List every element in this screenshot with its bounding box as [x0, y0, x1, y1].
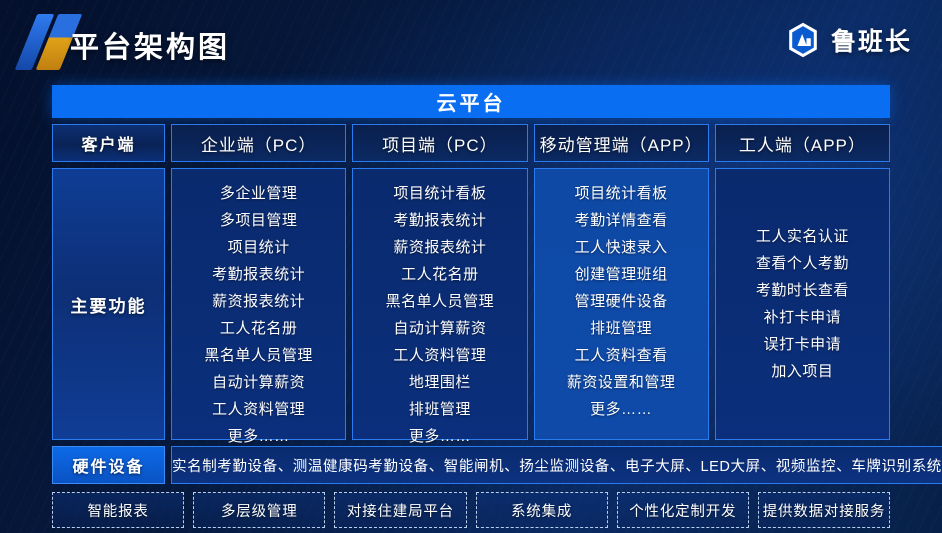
list-item[interactable]: 工人资料管理	[212, 401, 305, 419]
function-column-worker: 工人实名认证 查看个人考勤 考勤时长查看 补打卡申请 误打卡申请 加入项目	[715, 168, 890, 440]
hardware-label: 硬件设备	[72, 453, 144, 477]
list-item[interactable]: 管理硬件设备	[575, 293, 668, 311]
list-item[interactable]: 误打卡申请	[764, 336, 842, 354]
brand: 鲁班长	[785, 21, 912, 59]
list-item[interactable]: 排班管理	[590, 320, 652, 338]
hexagon-building-icon	[785, 21, 821, 59]
list-item[interactable]: 查看个人考勤	[756, 255, 849, 273]
client-label-cell: 客户端	[52, 124, 165, 162]
function-column-project: 项目统计看板 考勤报表统计 薪资报表统计 工人花名册 黑名单人员管理 自动计算薪…	[352, 168, 527, 440]
list-item[interactable]: 考勤报表统计	[212, 266, 305, 284]
function-column-mobile-admin: 项目统计看板 考勤详情查看 工人快速录入 创建管理班组 管理硬件设备 排班管理 …	[534, 168, 709, 440]
column-header-project[interactable]: 项目端（PC）	[352, 124, 527, 162]
list-item[interactable]: 工人花名册	[220, 320, 298, 338]
list-item[interactable]: 工人实名认证	[756, 228, 849, 246]
page-header: 平台架构图 鲁班长	[0, 0, 942, 80]
architecture-grid: 客户端 企业端（PC） 项目端（PC） 移动管理端（APP） 工人端（APP） …	[52, 124, 890, 528]
service-tag-label: 智能报表	[87, 500, 148, 521]
column-header-enterprise[interactable]: 企业端（PC）	[171, 124, 346, 162]
list-item[interactable]: 薪资报表统计	[212, 293, 305, 311]
list-item[interactable]: 自动计算薪资	[212, 374, 305, 392]
list-item[interactable]: 自动计算薪资	[393, 320, 486, 338]
function-list-project: 项目统计看板 考勤报表统计 薪资报表统计 工人花名册 黑名单人员管理 自动计算薪…	[353, 185, 526, 446]
list-item[interactable]: 多企业管理	[220, 185, 298, 203]
client-label: 客户端	[81, 131, 135, 155]
list-item[interactable]: 地理围栏	[409, 374, 471, 392]
function-list-worker: 工人实名认证 查看个人考勤 考勤时长查看 补打卡申请 误打卡申请 加入项目	[716, 228, 889, 381]
list-item[interactable]: 工人快速录入	[575, 239, 668, 257]
function-list-enterprise: 多企业管理 多项目管理 项目统计 考勤报表统计 薪资报表统计 工人花名册 黑名单…	[172, 185, 345, 446]
service-tag-custom-dev[interactable]: 个性化定制开发	[617, 492, 749, 528]
column-header-worker[interactable]: 工人端（APP）	[715, 124, 890, 162]
hardware-label-cell: 硬件设备	[52, 446, 165, 484]
cloud-platform-label: 云平台	[437, 87, 506, 116]
list-item[interactable]: 薪资设置和管理	[567, 374, 676, 392]
list-item[interactable]: 考勤时长查看	[756, 282, 849, 300]
list-item[interactable]: 多项目管理	[220, 212, 298, 230]
service-tag-label: 系统集成	[511, 500, 572, 521]
list-item[interactable]: 排班管理	[409, 401, 471, 419]
list-item[interactable]: 黑名单人员管理	[204, 347, 313, 365]
list-item[interactable]: 工人资料查看	[575, 347, 668, 365]
service-tag-label: 个性化定制开发	[629, 500, 736, 521]
service-tag-smart-report[interactable]: 智能报表	[52, 492, 184, 528]
service-tag-label: 提供数据对接服务	[763, 500, 885, 521]
list-item[interactable]: 项目统计	[228, 239, 290, 257]
list-item[interactable]: 工人资料管理	[393, 347, 486, 365]
list-item-more[interactable]: 更多……	[409, 428, 471, 446]
service-tag-label: 对接住建局平台	[347, 500, 454, 521]
main-functions-label: 主要功能	[71, 292, 147, 317]
list-item[interactable]: 薪资报表统计	[393, 239, 486, 257]
service-tag-label: 多层级管理	[221, 500, 298, 521]
cloud-platform-bar: 云平台	[52, 85, 890, 118]
main-functions-label-cell: 主要功能	[52, 168, 165, 440]
list-item[interactable]: 黑名单人员管理	[386, 293, 495, 311]
list-item[interactable]: 创建管理班组	[575, 266, 668, 284]
list-item[interactable]: 加入项目	[771, 363, 833, 381]
list-item-more[interactable]: 更多……	[228, 428, 290, 446]
column-header-label: 移动管理端（APP）	[540, 131, 703, 156]
list-item[interactable]: 项目统计看板	[393, 185, 486, 203]
service-tag-gov-platform[interactable]: 对接住建局平台	[334, 492, 466, 528]
function-list-mobile-admin: 项目统计看板 考勤详情查看 工人快速录入 创建管理班组 管理硬件设备 排班管理 …	[535, 185, 708, 419]
client-header-row: 客户端 企业端（PC） 项目端（PC） 移动管理端（APP） 工人端（APP）	[52, 124, 890, 162]
column-header-label: 工人端（APP）	[739, 131, 866, 156]
service-tag-system-integration[interactable]: 系统集成	[476, 492, 608, 528]
list-item-more[interactable]: 更多……	[590, 401, 652, 419]
column-header-label: 企业端（PC）	[201, 131, 317, 156]
hardware-row: 硬件设备 实名制考勤设备、测温健康码考勤设备、智能闸机、扬尘监测设备、电子大屏、…	[52, 446, 890, 484]
column-header-mobile-admin[interactable]: 移动管理端（APP）	[534, 124, 709, 162]
list-item[interactable]: 工人花名册	[401, 266, 479, 284]
hardware-list-text: 实名制考勤设备、测温健康码考勤设备、智能闸机、扬尘监测设备、电子大屏、LED大屏…	[172, 455, 942, 476]
service-tag-multi-level[interactable]: 多层级管理	[193, 492, 325, 528]
function-column-enterprise: 多企业管理 多项目管理 项目统计 考勤报表统计 薪资报表统计 工人花名册 黑名单…	[171, 168, 346, 440]
brand-name: 鲁班长	[831, 22, 912, 58]
page-title: 平台架构图	[70, 24, 230, 66]
list-item[interactable]: 补打卡申请	[764, 309, 842, 327]
list-item[interactable]: 项目统计看板	[575, 185, 668, 203]
service-tag-data-service[interactable]: 提供数据对接服务	[758, 492, 890, 528]
hardware-list-cell: 实名制考勤设备、测温健康码考勤设备、智能闸机、扬尘监测设备、电子大屏、LED大屏…	[171, 446, 942, 484]
service-tags-row: 智能报表 多层级管理 对接住建局平台 系统集成 个性化定制开发 提供数据对接服务	[52, 492, 890, 528]
list-item[interactable]: 考勤报表统计	[393, 212, 486, 230]
main-functions-row: 主要功能 多企业管理 多项目管理 项目统计 考勤报表统计 薪资报表统计 工人花名…	[52, 168, 890, 440]
platform-architecture-diagram: 平台架构图 鲁班长 云平台 客户端 企业端（PC） 项目端（PC）	[0, 0, 942, 533]
list-item[interactable]: 考勤详情查看	[575, 212, 668, 230]
column-header-label: 项目端（PC）	[382, 131, 498, 156]
